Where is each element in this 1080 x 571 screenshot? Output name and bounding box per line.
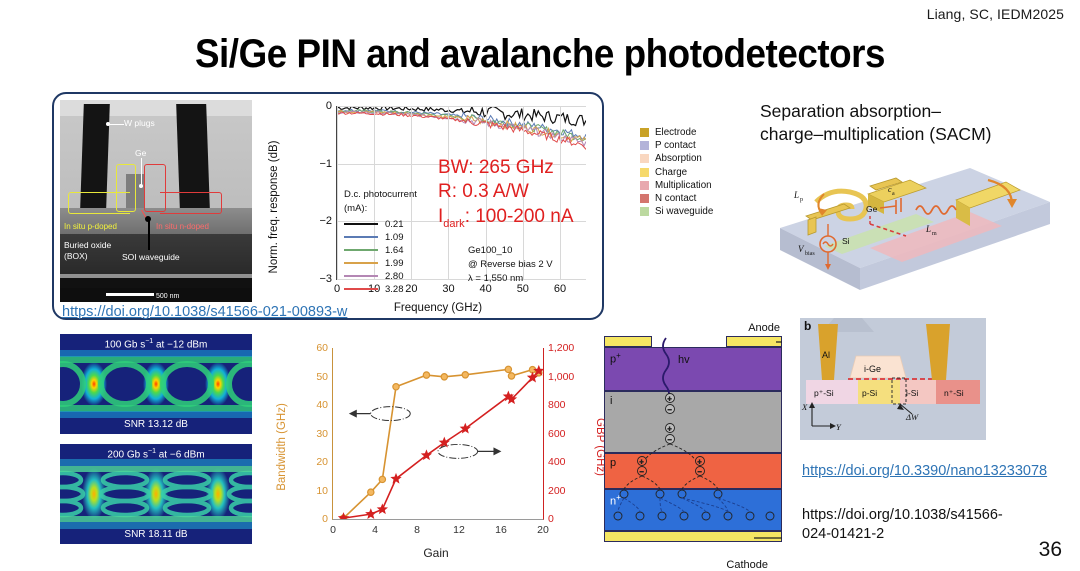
gain-y-left-tick: 20 — [316, 456, 328, 468]
gain-series-GBP — [344, 371, 539, 518]
gain-marker-circle — [393, 384, 399, 390]
sacm-legend-swatch — [640, 141, 649, 150]
freq-legend-label: 3.28 — [385, 284, 404, 295]
freq-legend-label: 1.09 — [385, 232, 404, 243]
sacm-legend-row: P contact — [640, 139, 713, 152]
doi-link-nano[interactable]: https://doi.org/10.3390/nano13233078 — [802, 462, 1018, 481]
svg-text:−: − — [668, 407, 672, 414]
sacm-legend-row: Multiplication — [640, 179, 713, 192]
svg-text:m: m — [932, 231, 937, 237]
svg-text:+: + — [668, 426, 672, 433]
slide-root: Liang, SC, IEDM2025 Si/Ge PIN and avalan… — [0, 0, 1080, 568]
svg-text:−: − — [668, 437, 672, 444]
label-w-plugs: W plugs — [124, 118, 155, 128]
sacm-legend-label: Si waveguide — [655, 206, 713, 217]
freq-gridline-h — [337, 106, 586, 107]
svg-text:+: + — [668, 396, 672, 403]
gain-marker-circle — [505, 366, 511, 372]
page-title: Si/Ge PIN and avalanche photodetectors — [43, 32, 1037, 77]
cross-section-panel: b X Y — [800, 318, 986, 440]
freq-legend-label: 1.99 — [385, 258, 404, 269]
ge-callout-dot — [139, 184, 143, 188]
gain-y-left-tick: 50 — [316, 371, 328, 383]
freq-gridline-v — [337, 106, 338, 279]
freq-legend-row: 3.28 — [344, 283, 417, 296]
eye-rate-label: 100 Gb s — [105, 339, 146, 350]
svg-text:X: X — [801, 402, 808, 412]
sacm-legend: ElectrodeP contactAbsorptionChargeMultip… — [640, 126, 713, 218]
sacm-legend-label: N contact — [655, 193, 696, 204]
left-axis-arrow-annotation — [349, 407, 410, 421]
freq-legend-row: 1.09 — [344, 231, 417, 244]
sacm-legend-swatch — [640, 168, 649, 177]
gain-y-right-tick: 200 — [548, 485, 566, 497]
eye-rate-exponent: −1 — [148, 448, 156, 455]
svg-text:−: − — [640, 469, 644, 476]
sacm-legend-row: Charge — [640, 166, 713, 179]
freq-y-axis-label: Norm. freq. response (dB) — [268, 141, 280, 274]
freq-y-tick: 0 — [326, 100, 332, 112]
ge-callout-line — [141, 158, 142, 186]
freq-note-line: Ge100_10 — [468, 244, 553, 258]
sacm-legend-row: Electrode — [640, 126, 713, 139]
freq-x-axis-label: Frequency (GHz) — [278, 302, 598, 314]
w-plugs-callout-line — [108, 124, 124, 125]
sacm-heading-line1: Separation absorption– — [760, 100, 1060, 123]
freq-legend-row: 1.99 — [344, 257, 417, 270]
svg-text:p: p — [800, 197, 803, 203]
gain-y-left-tick: 30 — [316, 428, 328, 440]
sacm-legend-swatch — [640, 128, 649, 137]
gain-marker-circle — [368, 489, 374, 495]
freq-y-tick: −1 — [319, 158, 332, 170]
apd-layer-diagram: Anode p+ i p n+ Cathode hv + − + − + — [604, 336, 782, 556]
svg-text:i-Si: i-Si — [906, 388, 918, 398]
sacm-legend-label: Electrode — [655, 127, 696, 138]
gain-y-left-label: Bandwidth (GHz) — [276, 403, 288, 491]
freq-legend-title-1: D.c. photocurrent — [344, 190, 417, 201]
gain-x-tick: 16 — [495, 524, 507, 536]
label-buried-oxide-line2: (BOX) — [64, 251, 88, 261]
svg-text:Al: Al — [822, 350, 830, 360]
sacm-legend-swatch — [640, 154, 649, 163]
gain-marker-circle — [462, 372, 468, 378]
gain-marker-star — [390, 473, 401, 484]
eye-diagram-100g: 100 Gb s−1 at −12 dBm SNR 13.12 dB — [60, 334, 252, 434]
gain-marker-circle — [508, 373, 514, 379]
freq-legend-label: 2.80 — [385, 271, 404, 282]
freq-legend-row: 0.21 — [344, 218, 417, 231]
gain-x-tick: 12 — [453, 524, 465, 536]
gain-x-tick: 20 — [537, 524, 549, 536]
doi-ref-plain: https://doi.org/10.1038/s41566-024-01421… — [802, 506, 1018, 543]
cross-section-svg: X Y Al i-Ge p⁺-Si p-Si i-Si n⁺-Si ΔW — [800, 318, 986, 440]
sacm-legend-row: Absorption — [640, 152, 713, 165]
gain-marker-star — [365, 508, 376, 519]
freq-legend-swatch — [344, 275, 378, 277]
tem-micrograph: W plugs Ge In situ p-doped In situ n-dop… — [60, 100, 252, 302]
svg-text:i-Ge: i-Ge — [864, 364, 881, 374]
freq-legend-swatch — [344, 288, 378, 290]
freq-legend-title-2: (mA): — [344, 204, 417, 215]
freq-x-tick: 0 — [334, 283, 340, 295]
scalebar-label: 500 nm — [156, 293, 179, 300]
freq-legend-label: 0.21 — [385, 219, 404, 230]
eye-rate-exponent: −1 — [145, 338, 153, 345]
gain-y-right-tick: 1,200 — [548, 342, 574, 354]
gain-series-Bandwidth — [344, 369, 539, 518]
scalebar — [106, 293, 154, 296]
gain-y-right-tick: 400 — [548, 456, 566, 468]
eye-rate-label: 200 Gb s — [107, 449, 148, 460]
label-buried-oxide-line1: Buried oxide — [64, 240, 111, 250]
idark-subscript: dark — [443, 217, 464, 229]
freq-legend-row: 1.64 — [344, 244, 417, 257]
eye-diagram-200g: 200 Gb s−1 at −6 dBm SNR 18.11 dB — [60, 444, 252, 544]
eye-200g-top-label: 200 Gb s−1 at −6 dBm — [60, 448, 252, 460]
gain-y-right-tick: 800 — [548, 399, 566, 411]
svg-text:L: L — [925, 224, 931, 234]
gain-y-right-tick: 1,000 — [548, 371, 574, 383]
sacm-legend-row: Si waveguide — [640, 205, 713, 218]
svg-text:Si: Si — [842, 236, 850, 246]
gain-series-svg — [333, 348, 543, 519]
sacm-legend-swatch — [640, 207, 649, 216]
sacm-legend-row: N contact — [640, 192, 713, 205]
sacm-legend-label: Multiplication — [655, 180, 712, 191]
freq-y-tick: −3 — [319, 273, 332, 285]
gain-y-left-tick: 60 — [316, 342, 328, 354]
eye-200g-snr-label: SNR 18.11 dB — [60, 529, 252, 540]
gain-bandwidth-chart: Bandwidth (GHz) GBP (GHz) 04812162001020… — [276, 334, 596, 560]
byline: Liang, SC, IEDM2025 — [927, 6, 1064, 22]
freq-legend-swatch — [344, 249, 378, 251]
eye-power-label: at −12 dBm — [153, 339, 207, 350]
svg-text:+: + — [640, 459, 644, 466]
eye-100g-top-label: 100 Gb s−1 at −12 dBm — [60, 338, 252, 350]
gain-y-left-tick: 40 — [316, 399, 328, 411]
svg-text:+: + — [698, 459, 702, 466]
panel-label-b: b — [804, 319, 811, 333]
sacm-legend-label: Absorption — [655, 153, 702, 164]
freq-legend-swatch — [344, 262, 378, 264]
svg-text:p-Si: p-Si — [862, 388, 877, 398]
label-n-doped: In situ n-doped — [156, 222, 209, 231]
sacm-legend-label: Charge — [655, 167, 687, 178]
svg-text:n⁺-Si: n⁺-Si — [944, 388, 964, 398]
p-doped-outline-b — [116, 164, 136, 212]
gain-x-tick: 0 — [330, 524, 336, 536]
gain-plot-area: 048121620010203040506002004006008001,000… — [332, 348, 544, 520]
n-doped-outline-b — [160, 192, 222, 214]
label-ge: Ge — [135, 148, 146, 158]
soi-callout-line — [148, 220, 150, 250]
sacm-3d-diagram: L p c a L m V bias Ge Si — [720, 140, 1050, 300]
sacm-3d-svg: L p c a L m V bias Ge Si — [720, 140, 1050, 300]
sacm-legend-swatch — [640, 194, 649, 203]
gain-y-right-tick: 600 — [548, 428, 566, 440]
page-number: 36 — [1039, 538, 1062, 562]
cathode-label: Cathode — [726, 559, 768, 571]
freq-legend-row: 2.80 — [344, 270, 417, 283]
gain-y-left-tick: 0 — [322, 513, 328, 525]
freq-legend-label: 1.64 — [385, 245, 404, 256]
freq-x-tick: 60 — [554, 283, 566, 295]
sacm-heading: Separation absorption– charge–multiplica… — [760, 100, 1060, 146]
frequency-response-chart: Norm. freq. response (dB) 01020304050600… — [278, 98, 598, 316]
annotation-responsivity: R: 0.3 A/W — [438, 180, 574, 204]
annotation-bandwidth: BW: 265 GHz — [438, 156, 574, 180]
idark-value: : 100-200 nA — [465, 206, 574, 227]
gain-x-axis-label: Gain — [276, 546, 596, 560]
freq-red-annotations: BW: 265 GHz R: 0.3 A/W Idark: 100-200 nA — [438, 156, 574, 231]
svg-text:a: a — [892, 191, 895, 197]
svg-text:Ge: Ge — [866, 204, 878, 214]
anode-label: Anode — [748, 322, 780, 334]
label-p-doped: In situ p-doped — [64, 222, 117, 231]
gain-x-tick: 8 — [414, 524, 420, 536]
svg-text:bias: bias — [805, 251, 815, 257]
freq-legend-swatch — [344, 236, 378, 238]
sacm-legend-swatch — [640, 181, 649, 190]
gain-y-right-tick: 0 — [548, 513, 554, 525]
freq-y-tick: −2 — [319, 215, 332, 227]
freq-condition-note: Ge100_10@ Reverse bias 2 Vλ = 1,550 nm — [468, 244, 553, 285]
apd-carrier-cascade: + − + − + − + − — [604, 336, 782, 546]
svg-text:p⁺-Si: p⁺-Si — [814, 388, 834, 398]
gain-marker-circle — [441, 374, 447, 380]
freq-x-tick: 30 — [442, 283, 454, 295]
freq-legend-swatch — [344, 223, 378, 225]
gain-marker-circle — [379, 476, 385, 482]
sacm-legend-label: P contact — [655, 140, 696, 151]
annotation-idark: Idark: 100-200 nA — [438, 205, 574, 231]
gain-marker-star — [377, 503, 388, 514]
svg-text:−: − — [698, 469, 702, 476]
freq-legend: D.c. photocurrent (mA): 0.211.091.641.99… — [344, 190, 417, 296]
svg-text:L: L — [793, 190, 799, 200]
gain-marker-circle — [423, 372, 429, 378]
freq-note-line: λ = 1,550 nm — [468, 272, 553, 286]
eye-100g-snr-label: SNR 13.12 dB — [60, 419, 252, 430]
freq-note-line: @ Reverse bias 2 V — [468, 258, 553, 272]
label-soi-waveguide: SOI waveguide — [122, 252, 180, 262]
gain-x-tick: 4 — [372, 524, 378, 536]
gain-y-left-tick: 10 — [316, 485, 328, 497]
svg-text:ΔW: ΔW — [905, 412, 919, 422]
eye-power-label: at −6 dBm — [156, 449, 205, 460]
